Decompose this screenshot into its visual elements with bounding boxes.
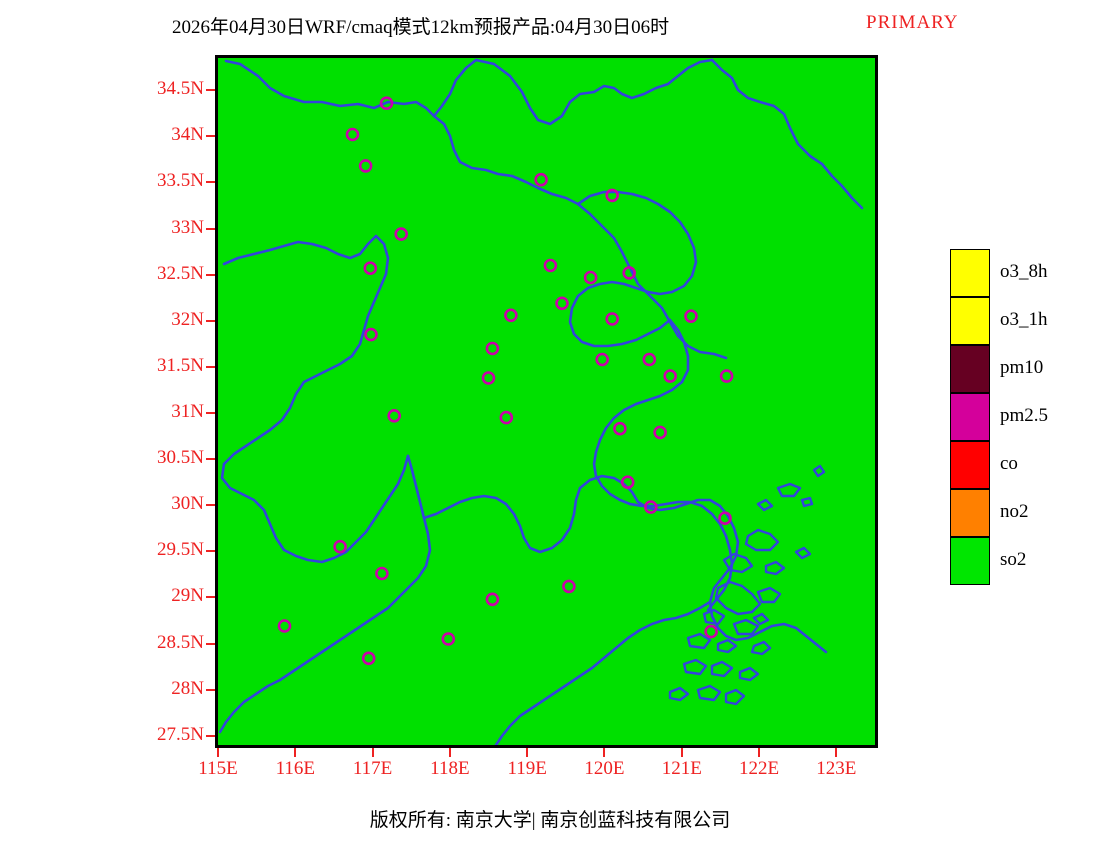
x-axis-label: 118E xyxy=(410,758,490,780)
y-axis-tick xyxy=(206,135,215,137)
x-axis-label: 123E xyxy=(796,758,876,780)
station-marker[interactable] xyxy=(655,427,666,438)
y-axis-tick xyxy=(206,504,215,506)
station-marker[interactable] xyxy=(487,343,498,354)
y-axis-tick xyxy=(206,689,215,691)
station-marker[interactable] xyxy=(389,410,400,421)
x-axis-label: 121E xyxy=(642,758,722,780)
y-axis-label: 31N xyxy=(138,401,204,423)
x-axis-tick xyxy=(294,748,296,757)
x-axis-tick xyxy=(449,748,451,757)
y-axis-tick xyxy=(206,643,215,645)
legend-item-o3-8h[interactable]: o3_8h xyxy=(950,249,1090,297)
x-axis-label: 122E xyxy=(719,758,799,780)
legend-item-pm2-5[interactable]: pm2.5 xyxy=(950,393,1090,441)
x-axis-label: 116E xyxy=(255,758,335,780)
station-marker[interactable] xyxy=(665,371,676,382)
legend-item-no2[interactable]: no2 xyxy=(950,489,1090,537)
station-marker[interactable] xyxy=(607,314,618,325)
y-axis-label: 30.5N xyxy=(138,447,204,469)
station-marker[interactable] xyxy=(557,298,568,309)
copyright-footer: 版权所有: 南京大学| 南京创蓝科技有限公司 xyxy=(0,805,1100,832)
x-axis-label: 119E xyxy=(487,758,567,780)
legend-color-swatch xyxy=(950,345,990,393)
legend-label: pm2.5 xyxy=(1000,405,1048,427)
x-axis-tick xyxy=(681,748,683,757)
legend-label: no2 xyxy=(1000,501,1029,523)
y-axis-label: 29N xyxy=(138,585,204,607)
legend-color-swatch xyxy=(950,393,990,441)
station-marker[interactable] xyxy=(443,634,454,645)
chart-title-bar: 2026年04月30日WRF/cmaq模式12km预报产品:04月30日06时 … xyxy=(0,12,1100,38)
legend-item-o3-1h[interactable]: o3_1h xyxy=(950,297,1090,345)
y-axis-tick xyxy=(206,89,215,91)
legend-label: o3_1h xyxy=(1000,309,1048,331)
legend-color-swatch xyxy=(950,441,990,489)
station-marker[interactable] xyxy=(721,371,732,382)
station-marker[interactable] xyxy=(686,311,697,322)
y-axis-label: 28N xyxy=(138,678,204,700)
station-marker[interactable] xyxy=(585,272,596,283)
y-axis-tick xyxy=(206,550,215,552)
x-axis-tick xyxy=(603,748,605,757)
x-axis-label: 115E xyxy=(178,758,258,780)
legend-color-swatch xyxy=(950,249,990,297)
y-axis-tick xyxy=(206,735,215,737)
y-axis-tick xyxy=(206,412,215,414)
station-marker[interactable] xyxy=(335,541,346,552)
station-marker[interactable] xyxy=(614,423,625,434)
station-marker[interactable] xyxy=(501,412,512,423)
x-axis-label: 120E xyxy=(564,758,644,780)
legend-color-swatch xyxy=(950,489,990,537)
legend-item-co[interactable]: co xyxy=(950,441,1090,489)
legend-item-pm10[interactable]: pm10 xyxy=(950,345,1090,393)
x-axis-tick xyxy=(835,748,837,757)
station-marker[interactable] xyxy=(563,581,574,592)
x-axis-tick xyxy=(526,748,528,757)
primary-pollutant-label: PRIMARY xyxy=(866,12,959,34)
y-axis-label: 28.5N xyxy=(138,632,204,654)
legend-label: so2 xyxy=(1000,549,1026,571)
page-title: 2026年04月30日WRF/cmaq模式12km预报产品:04月30日06时 xyxy=(172,12,669,39)
legend-color-swatch xyxy=(950,297,990,345)
y-axis-tick xyxy=(206,366,215,368)
map-plot-area xyxy=(215,55,878,748)
station-marker[interactable] xyxy=(644,354,655,365)
legend-label: pm10 xyxy=(1000,357,1043,379)
x-axis-tick xyxy=(372,748,374,757)
legend-item-so2[interactable]: so2 xyxy=(950,537,1090,585)
y-axis-label: 32N xyxy=(138,309,204,331)
legend-label: o3_8h xyxy=(1000,261,1048,283)
station-marker[interactable] xyxy=(487,594,498,605)
x-axis-tick xyxy=(217,748,219,757)
y-axis-tick xyxy=(206,274,215,276)
y-axis-tick xyxy=(206,181,215,183)
y-axis-label: 33N xyxy=(138,217,204,239)
y-axis-label: 33.5N xyxy=(138,170,204,192)
legend-label: co xyxy=(1000,453,1018,475)
station-marker[interactable] xyxy=(396,229,407,240)
y-axis-label: 29.5N xyxy=(138,539,204,561)
station-marker[interactable] xyxy=(366,329,377,340)
station-marker[interactable] xyxy=(347,129,358,140)
legend-color-swatch xyxy=(950,537,990,585)
station-marker[interactable] xyxy=(505,310,516,321)
map-vector-layer xyxy=(218,58,875,745)
station-marker[interactable] xyxy=(279,621,290,632)
station-marker[interactable] xyxy=(363,653,374,664)
station-marker[interactable] xyxy=(360,160,371,171)
pollutant-legend: o3_8ho3_1hpm10pm2.5cono2so2 xyxy=(950,249,1090,585)
station-marker[interactable] xyxy=(483,373,494,384)
station-marker[interactable] xyxy=(706,626,717,637)
y-axis-tick xyxy=(206,320,215,322)
copyright-text: 版权所有: 南京大学| 南京创蓝科技有限公司 xyxy=(370,805,731,832)
x-axis-tick xyxy=(758,748,760,757)
y-axis-label: 27.5N xyxy=(138,724,204,746)
station-marker[interactable] xyxy=(376,568,387,579)
y-axis-label: 30N xyxy=(138,493,204,515)
station-marker[interactable] xyxy=(365,263,376,274)
x-axis-label: 117E xyxy=(333,758,413,780)
station-marker[interactable] xyxy=(545,260,556,271)
station-marker[interactable] xyxy=(536,174,547,185)
y-axis-tick xyxy=(206,596,215,598)
y-axis-label: 34.5N xyxy=(138,78,204,100)
y-axis-tick xyxy=(206,228,215,230)
station-marker[interactable] xyxy=(597,354,608,365)
y-axis-label: 31.5N xyxy=(138,355,204,377)
y-axis-label: 34N xyxy=(138,124,204,146)
y-axis-label: 32.5N xyxy=(138,263,204,285)
station-markers-layer xyxy=(279,98,732,664)
y-axis-tick xyxy=(206,458,215,460)
